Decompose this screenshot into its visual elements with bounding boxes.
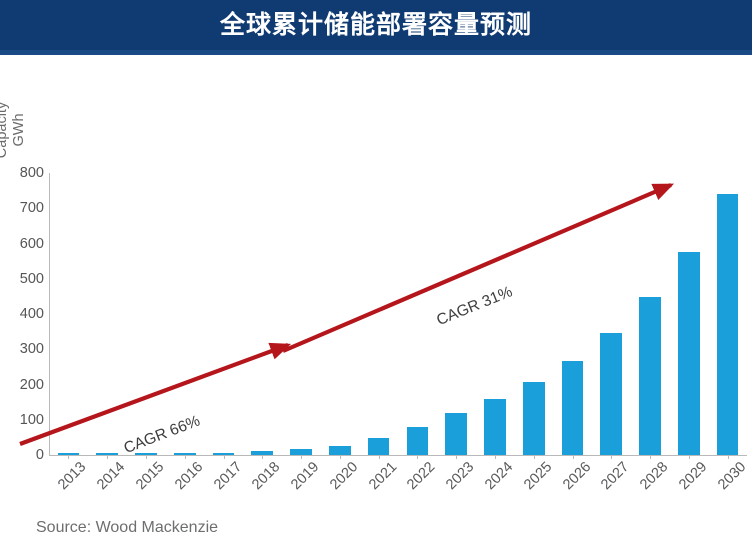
x-tick-mark: [495, 455, 496, 459]
x-tick-mark: [185, 455, 186, 459]
x-tick-label: 2030: [715, 459, 749, 493]
bar: [678, 252, 700, 455]
x-tick-mark: [689, 455, 690, 459]
x-axis-line: [49, 455, 747, 456]
bar: [484, 399, 506, 455]
x-tick-label: 2029: [676, 459, 710, 493]
x-tick-label: 2022: [405, 459, 439, 493]
chart-container: Capacity GWh 0100200300400500600700800 2…: [0, 55, 752, 555]
y-tick-label: 700: [2, 200, 44, 216]
x-tick-label: 2028: [637, 459, 671, 493]
x-tick-mark: [534, 455, 535, 459]
y-tick-label: 600: [2, 236, 44, 252]
bar: [639, 297, 661, 455]
x-tick-label: 2027: [598, 459, 632, 493]
y-axis-tick-labels: 0100200300400500600700800: [0, 55, 44, 555]
bar: [445, 413, 467, 455]
y-tick-label: 0: [2, 447, 44, 463]
title-banner: 全球累计储能部署容量预测: [0, 0, 752, 55]
x-tick-label: 2016: [172, 459, 206, 493]
bar: [600, 333, 622, 455]
x-tick-label: 2014: [94, 459, 128, 493]
x-tick-mark: [611, 455, 612, 459]
x-tick-mark: [650, 455, 651, 459]
x-tick-mark: [262, 455, 263, 459]
x-tick-label: 2026: [560, 459, 594, 493]
x-tick-mark: [68, 455, 69, 459]
bar: [523, 382, 545, 455]
x-tick-mark: [146, 455, 147, 459]
x-tick-mark: [573, 455, 574, 459]
y-tick-label: 500: [2, 271, 44, 287]
x-tick-label: 2024: [482, 459, 516, 493]
page-title: 全球累计储能部署容量预测: [0, 0, 752, 50]
x-tick-label: 2020: [327, 459, 361, 493]
x-tick-label: 2025: [521, 459, 555, 493]
x-tick-mark: [379, 455, 380, 459]
x-tick-label: 2021: [366, 459, 400, 493]
x-tick-mark: [340, 455, 341, 459]
x-tick-label: 2019: [288, 459, 322, 493]
source-caption: Source: Wood Mackenzie: [36, 519, 218, 537]
bar: [368, 438, 390, 455]
x-tick-mark: [107, 455, 108, 459]
x-tick-label: 2017: [211, 459, 245, 493]
x-tick-label: 2015: [133, 459, 167, 493]
bar-series: [49, 173, 747, 455]
x-tick-mark: [417, 455, 418, 459]
x-tick-mark: [728, 455, 729, 459]
bar: [562, 361, 584, 455]
y-tick-label: 100: [2, 412, 44, 428]
bar: [717, 194, 739, 455]
x-tick-label: 2023: [443, 459, 477, 493]
y-tick-label: 400: [2, 306, 44, 322]
x-tick-label: 2018: [249, 459, 283, 493]
y-tick-label: 300: [2, 341, 44, 357]
y-tick-label: 800: [2, 165, 44, 181]
x-tick-mark: [301, 455, 302, 459]
x-tick-mark: [456, 455, 457, 459]
bar: [407, 427, 429, 455]
y-tick-label: 200: [2, 377, 44, 393]
x-tick-mark: [224, 455, 225, 459]
x-tick-label: 2013: [56, 459, 90, 493]
bar: [329, 446, 351, 455]
